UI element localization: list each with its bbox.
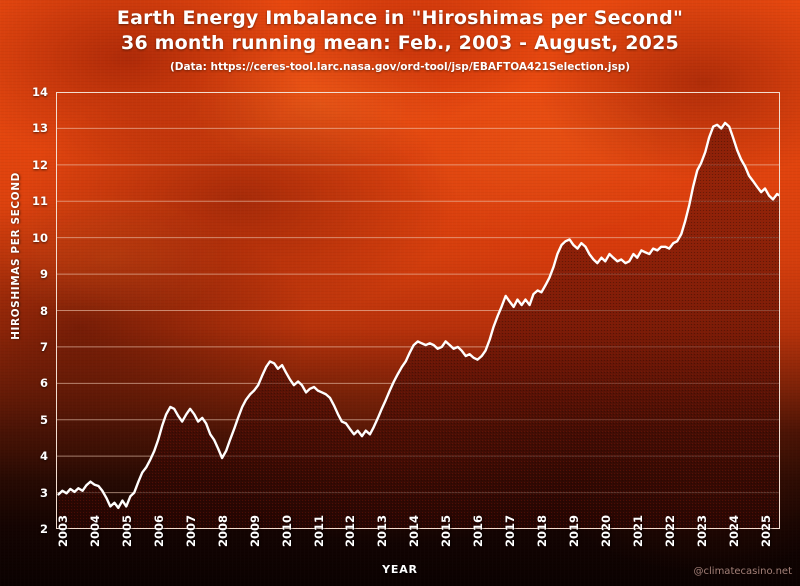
- x-tick-label-2014: 2014: [407, 515, 421, 547]
- y-tick-label-5: 5: [22, 413, 48, 427]
- y-tick-label-10: 10: [22, 231, 48, 245]
- x-tick-label-2023: 2023: [695, 515, 709, 547]
- chart-title-block: Earth Energy Imbalance in "Hiroshimas pe…: [0, 6, 800, 75]
- x-tick-label-2003: 2003: [56, 515, 70, 547]
- y-tick-label-9: 9: [22, 267, 48, 281]
- chart-title-line1: Earth Energy Imbalance in "Hiroshimas pe…: [0, 6, 800, 31]
- x-tick-label-2008: 2008: [216, 515, 230, 547]
- x-tick-label-2016: 2016: [471, 515, 485, 547]
- x-tick-label-2006: 2006: [152, 515, 166, 547]
- x-tick-label-2013: 2013: [375, 515, 389, 547]
- x-tick-label-2004: 2004: [88, 515, 102, 547]
- y-tick-label-6: 6: [22, 376, 48, 390]
- y-tick-label-7: 7: [22, 340, 48, 354]
- y-tick-label-3: 3: [22, 486, 48, 500]
- chart-title-line2: 36 month running mean: Feb., 2003 - Augu…: [0, 31, 800, 56]
- y-tick-label-13: 13: [22, 121, 48, 135]
- chart-canvas: Earth Energy Imbalance in "Hiroshimas pe…: [0, 0, 800, 586]
- plot-area: [56, 92, 780, 529]
- y-tick-label-2: 2: [22, 522, 48, 536]
- x-tick-label-2015: 2015: [439, 515, 453, 547]
- plot-frame-border: [56, 92, 780, 529]
- x-tick-label-2022: 2022: [663, 515, 677, 547]
- y-axis-title: HIROSHIMAS PER SECOND: [10, 156, 22, 356]
- y-tick-label-4: 4: [22, 449, 48, 463]
- x-tick-label-2025: 2025: [759, 515, 773, 547]
- y-tick-label-12: 12: [22, 158, 48, 172]
- x-tick-label-2019: 2019: [567, 515, 581, 547]
- x-tick-label-2021: 2021: [631, 515, 645, 547]
- watermark-credit: @climatecasino.net: [694, 566, 792, 577]
- x-tick-label-2009: 2009: [248, 515, 262, 547]
- x-tick-label-2017: 2017: [503, 515, 517, 547]
- y-tick-label-8: 8: [22, 304, 48, 318]
- y-tick-label-11: 11: [22, 194, 48, 208]
- x-axis-title: YEAR: [0, 563, 800, 576]
- x-tick-label-2020: 2020: [599, 515, 613, 547]
- x-tick-label-2012: 2012: [343, 515, 357, 547]
- x-tick-label-2010: 2010: [280, 515, 294, 547]
- x-tick-label-2005: 2005: [120, 515, 134, 547]
- x-tick-label-2018: 2018: [535, 515, 549, 547]
- x-tick-label-2011: 2011: [312, 515, 326, 547]
- y-tick-label-14: 14: [22, 85, 48, 99]
- x-tick-label-2007: 2007: [184, 515, 198, 547]
- x-tick-label-2024: 2024: [727, 515, 741, 547]
- chart-data-source-subtitle: (Data: https://ceres-tool.larc.nasa.gov/…: [0, 59, 800, 75]
